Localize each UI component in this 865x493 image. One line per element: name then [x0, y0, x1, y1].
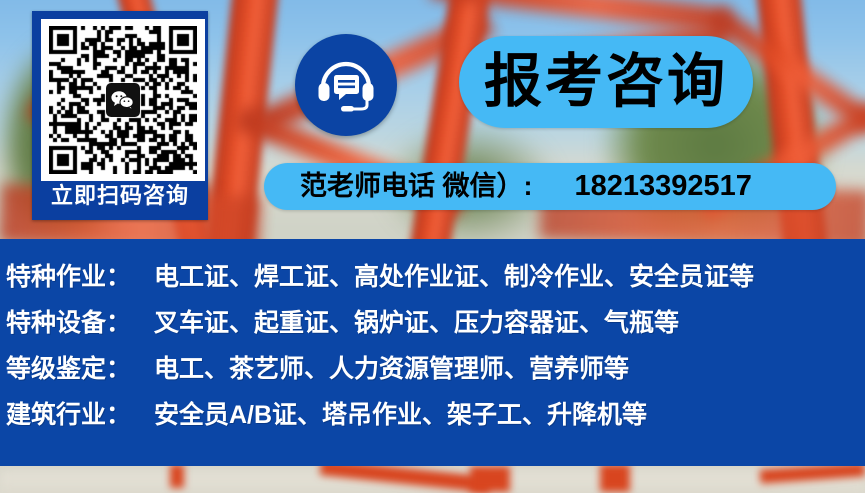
course-categories-list: 特种作业： 电工证、焊工证、高处作业证、制冷作业、安全员证等 特种设备： 叉车证…	[6, 257, 865, 441]
page-title: 报考咨询	[484, 53, 728, 111]
category-row-special-operations: 特种作业： 电工证、焊工证、高处作业证、制冷作业、安全员证等	[6, 257, 865, 303]
contact-phone-number[interactable]: 18213392517	[575, 172, 752, 201]
contact-pill[interactable]: 范老师电话 微信）: 18213392517	[264, 163, 836, 210]
promo-poster: 立即扫码咨询 报考咨询 范老师电话 微信）: 18213392517 特种作业：…	[0, 0, 865, 493]
category-label: 建筑行业：	[6, 395, 154, 431]
category-row-construction-industry: 建筑行业： 安全员A/B证、塔吊作业、架子工、升降机等	[6, 395, 865, 441]
headset-support-icon	[295, 34, 397, 136]
course-categories-panel: 特种作业： 电工证、焊工证、高处作业证、制冷作业、安全员证等 特种设备： 叉车证…	[0, 239, 865, 466]
ground-detail	[600, 464, 630, 492]
category-label: 特种作业：	[6, 257, 154, 293]
category-value: 电工证、焊工证、高处作业证、制冷作业、安全员证等	[154, 257, 754, 293]
category-label: 特种设备：	[6, 303, 154, 339]
ground-detail	[470, 466, 510, 492]
qr-code-image	[41, 19, 205, 181]
qr-code-card[interactable]: 立即扫码咨询	[32, 11, 208, 220]
category-value: 电工、茶艺师、人力资源管理师、营养师等	[154, 349, 629, 385]
wechat-icon	[106, 83, 140, 117]
category-label: 等级鉴定：	[6, 349, 154, 385]
category-value: 叉车证、起重证、锅炉证、压力容器证、气瓶等	[154, 303, 679, 339]
ground-detail	[170, 464, 184, 488]
qr-caption: 立即扫码咨询	[35, 178, 205, 214]
title-pill: 报考咨询	[459, 36, 753, 128]
category-row-grade-assessment: 等级鉴定： 电工、茶艺师、人力资源管理师、营养师等	[6, 349, 865, 395]
category-row-special-equipment: 特种设备： 叉车证、起重证、锅炉证、压力容器证、气瓶等	[6, 303, 865, 349]
category-value: 安全员A/B证、塔吊作业、架子工、升降机等	[154, 395, 647, 431]
contact-label: 范老师电话 微信）:	[300, 173, 533, 200]
